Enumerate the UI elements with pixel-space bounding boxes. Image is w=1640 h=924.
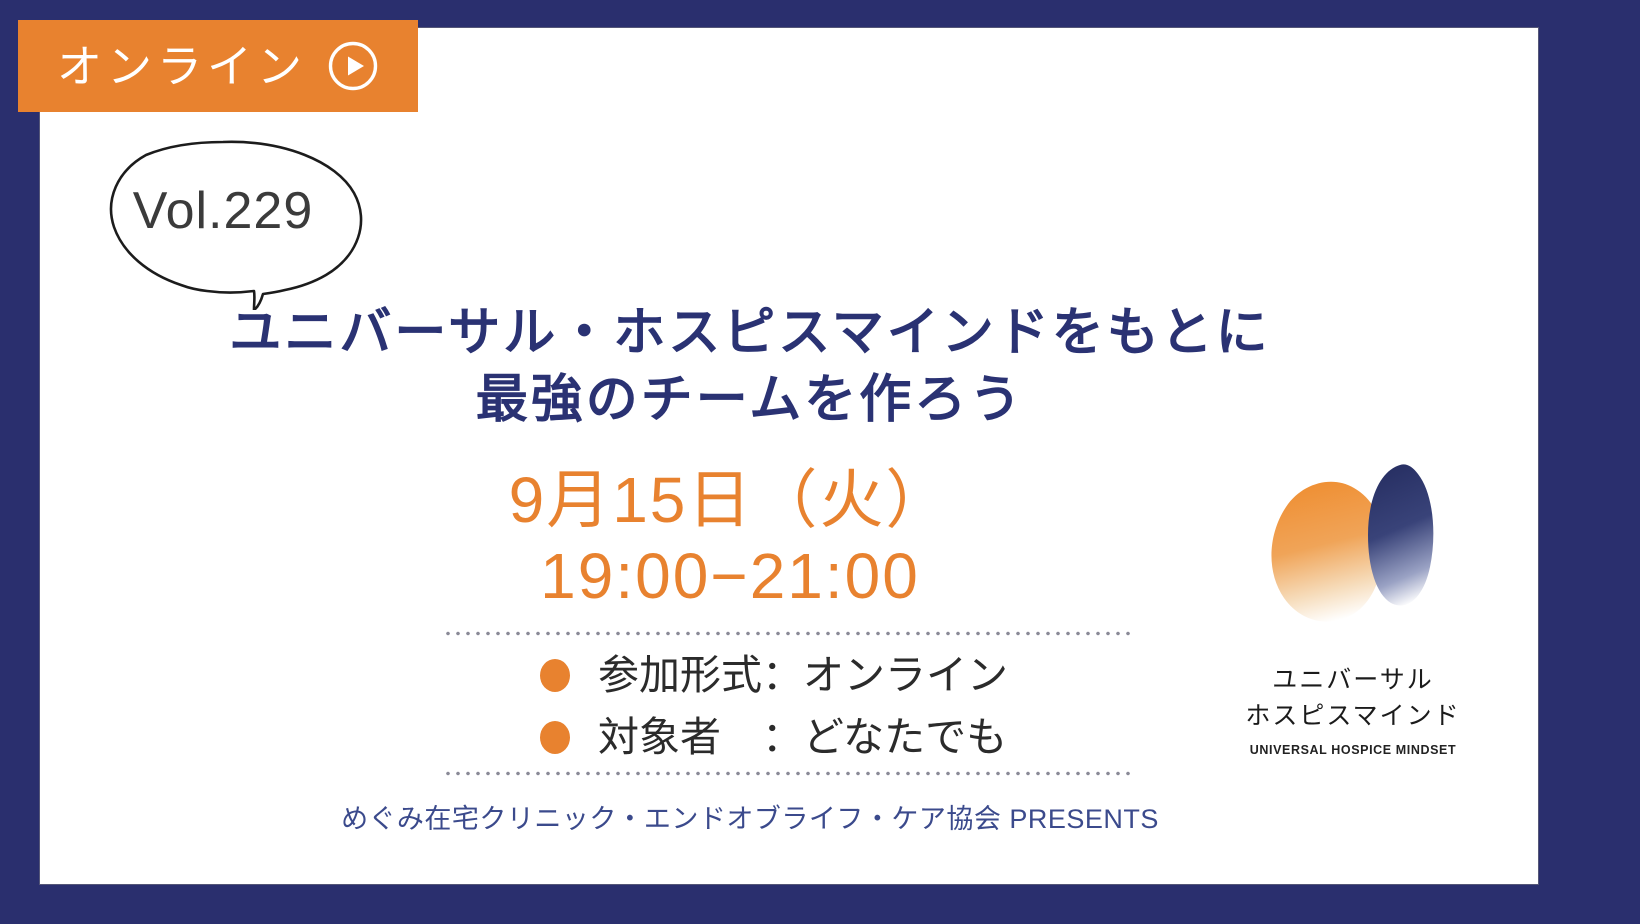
- event-datetime: 9月15日（火） 19:00−21:00: [330, 468, 1130, 608]
- presenter-credit: めぐみ在宅クリニック・エンドオブライフ・ケア協会 PRESENTS: [40, 797, 1460, 836]
- dotted-divider-top: [443, 631, 1130, 636]
- logo-jp-line-2: ホスピスマインド: [1228, 699, 1478, 735]
- volume-speech-bubble: Vol.229: [78, 135, 378, 310]
- poster-canvas: オンライン Vol.229 ユニバーサル・ホスピスマインドをもとに 最強のチーム…: [0, 0, 1640, 924]
- detail-format: 参加形式：オンライン: [598, 655, 1008, 696]
- online-badge: オンライン: [18, 20, 418, 112]
- logo-japanese-name: ユニバーサル ホスピスマインド: [1228, 663, 1478, 734]
- volume-label: Vol.229: [78, 135, 368, 287]
- two-petal-heart-logo-icon: [1258, 455, 1448, 655]
- bullet-dot-icon: [540, 659, 570, 692]
- event-details-list: 参加形式：オンライン 対象者 ：どなたでも: [540, 648, 1140, 772]
- list-item: 対象者 ：どなたでも: [540, 710, 1140, 764]
- event-time: 19:00−21:00: [330, 544, 1130, 608]
- event-date: 9月15日（火）: [330, 468, 1130, 532]
- play-circle-icon: [327, 40, 379, 92]
- brand-logo: ユニバーサル ホスピスマインド UNIVERSAL HOSPICE MINDSE…: [1228, 455, 1478, 765]
- list-item: 参加形式：オンライン: [540, 648, 1140, 702]
- logo-jp-line-1: ユニバーサル: [1228, 663, 1478, 699]
- page-title: ユニバーサル・ホスピスマインドをもとに 最強のチームを作ろう: [40, 300, 1460, 433]
- bullet-dot-icon: [540, 721, 570, 754]
- online-badge-label: オンライン: [57, 44, 307, 89]
- detail-audience: 対象者 ：どなたでも: [598, 717, 1007, 758]
- logo-english-name: UNIVERSAL HOSPICE MINDSET: [1228, 743, 1478, 757]
- page-title-line-2: 最強のチームを作ろう: [40, 367, 1460, 434]
